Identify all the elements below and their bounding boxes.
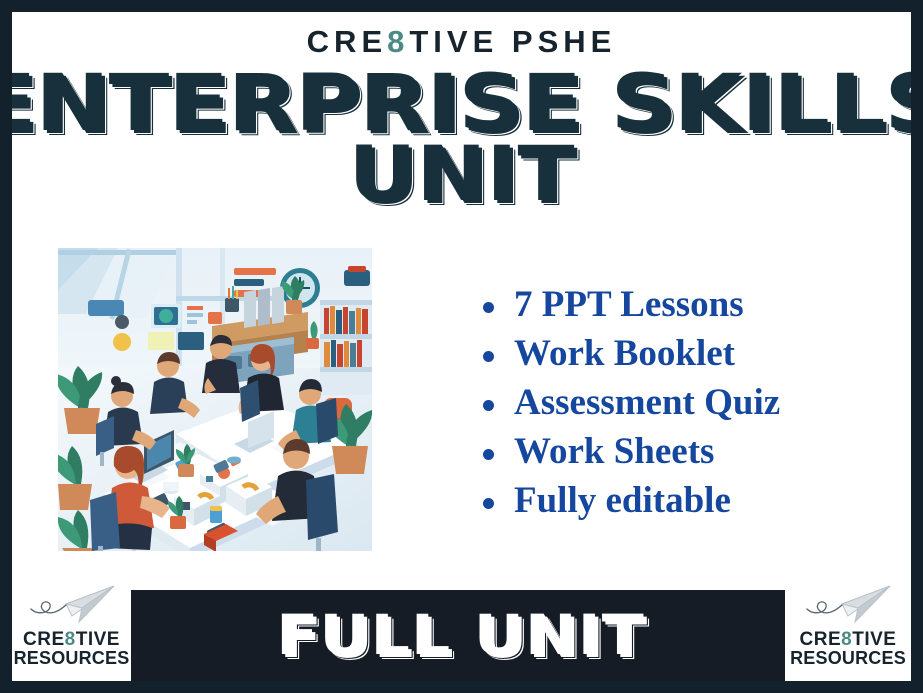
brand-logo-text: CRE8TIVE PSHE <box>307 24 617 59</box>
corner-right-eight: 8 <box>841 629 852 650</box>
corner-logo-right-line1: CRE8TIVE <box>790 630 906 649</box>
brand-logo-top: CRE8TIVE PSHE <box>12 26 911 57</box>
corner-left-suffix: TIVE <box>76 629 120 650</box>
page-title: ENTERPRISE SKILLS UNIT <box>12 70 911 208</box>
poster-inner: CRE8TIVE PSHE ENTERPRISE SKILLS UNIT <box>12 12 911 681</box>
banner-label: FULL UNIT <box>276 608 645 663</box>
paper-plane-icon <box>26 582 118 628</box>
list-item: 7 PPT Lessons <box>478 280 898 329</box>
feature-list: 7 PPT Lessons Work Booklet Assessment Qu… <box>478 280 898 525</box>
brand-eight: 8 <box>387 24 409 59</box>
paper-plane-icon <box>802 582 894 628</box>
corner-logo-left-text: CRE8TIVE RESOURCES <box>14 630 130 668</box>
brand-suffix: TIVE PSHE <box>409 24 616 59</box>
corner-logo-left: CRE8TIVE RESOURCES <box>12 578 131 681</box>
brand-prefix: CRE <box>307 24 387 59</box>
corner-logo-right: CRE8TIVE RESOURCES <box>785 578 911 681</box>
illustration-svg <box>58 248 372 551</box>
corner-logo-right-line2: RESOURCES <box>790 649 906 667</box>
corner-left-eight: 8 <box>65 629 76 650</box>
poster-frame: CRE8TIVE PSHE ENTERPRISE SKILLS UNIT <box>0 0 923 693</box>
list-item: Work Sheets <box>478 427 898 476</box>
office-teamwork-illustration <box>58 248 372 551</box>
corner-logo-left-line2: RESOURCES <box>14 649 130 667</box>
corner-logo-right-text: CRE8TIVE RESOURCES <box>790 630 906 668</box>
corner-left-prefix: CRE <box>23 629 65 650</box>
list-item: Work Booklet <box>478 329 898 378</box>
list-item: Assessment Quiz <box>478 378 898 427</box>
corner-right-suffix: TIVE <box>852 629 896 650</box>
list-item: Fully editable <box>478 476 898 525</box>
title-line-2: UNIT <box>12 141 911 208</box>
full-unit-banner: FULL UNIT <box>131 590 790 681</box>
corner-right-prefix: CRE <box>800 629 842 650</box>
corner-logo-left-line1: CRE8TIVE <box>14 630 130 649</box>
